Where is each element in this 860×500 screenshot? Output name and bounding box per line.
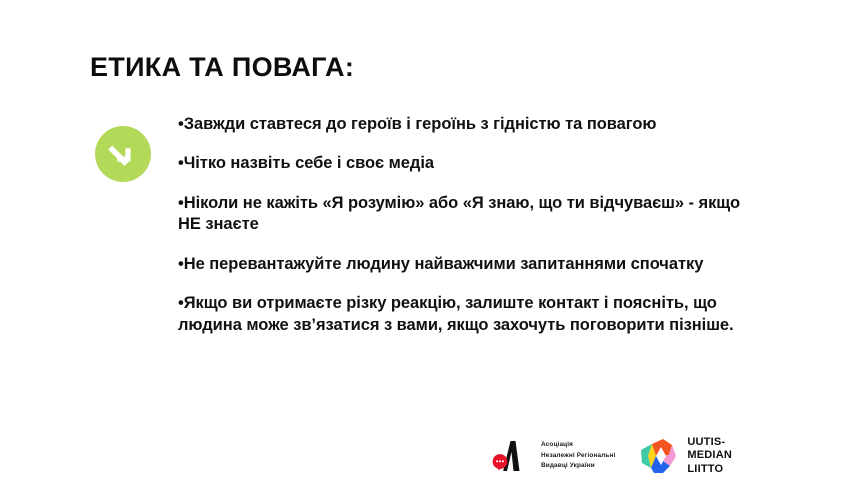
bullet-text: Завжди ставтеся до героїв і героїнь з гі…: [184, 115, 657, 133]
lambda-mark: [503, 441, 519, 471]
list-item: •Ніколи не кажіть «Я розумію» або «Я зна…: [178, 193, 758, 236]
bullet-text: Ніколи не кажіть «Я розумію» або «Я знаю…: [178, 194, 740, 233]
uutis-line-3: LIITTO: [687, 463, 732, 476]
color-wheel-icon: [639, 436, 679, 476]
page-title: ЕТИКА ТА ПОВАГА:: [90, 52, 354, 83]
uutis-logo-text: UUTIS- MEDIAN LIITTO: [687, 436, 732, 476]
bullet-text: Не перевантажуйте людину найважчими запи…: [184, 255, 704, 273]
uutismedian-liitto-logo: UUTIS- MEDIAN LIITTO: [639, 436, 732, 476]
bullet-text: Якщо ви отримаєте різку реакцію, залиште…: [178, 294, 734, 333]
anru-line-2: Незалежні Регіональні: [541, 451, 615, 461]
anru-logo-mark: [490, 435, 532, 477]
anru-line-1: Асоціація: [541, 440, 615, 450]
anru-logo-text: Асоціація Незалежні Регіональні Видавці …: [541, 440, 615, 471]
bullet-text: Чітко назвіть себе і своє медіа: [184, 154, 434, 172]
anru-line-3: Видавці України: [541, 461, 615, 471]
list-item: •Не перевантажуйте людину найважчими зап…: [178, 254, 758, 275]
footer-logos: Асоціація Незалежні Регіональні Видавці …: [490, 428, 732, 484]
list-item: •Якщо ви отримаєте різку реакцію, залишт…: [178, 293, 758, 336]
list-item: •Завжди ставтеся до героїв і героїнь з г…: [178, 114, 758, 135]
arrow-badge: [95, 126, 151, 182]
slide-canvas: ЕТИКА ТА ПОВАГА: •Завжди ставтеся до гер…: [0, 0, 860, 500]
bullet-list: •Завжди ставтеся до героїв і героїнь з г…: [178, 114, 758, 336]
list-item: •Чітко назвіть себе і своє медіа: [178, 153, 758, 174]
arrow-down-right-icon: [108, 139, 138, 169]
uutis-line-2: MEDIAN: [687, 449, 732, 462]
uutis-line-1: UUTIS-: [687, 436, 732, 449]
anru-logo: Асоціація Незалежні Регіональні Видавці …: [490, 435, 615, 477]
